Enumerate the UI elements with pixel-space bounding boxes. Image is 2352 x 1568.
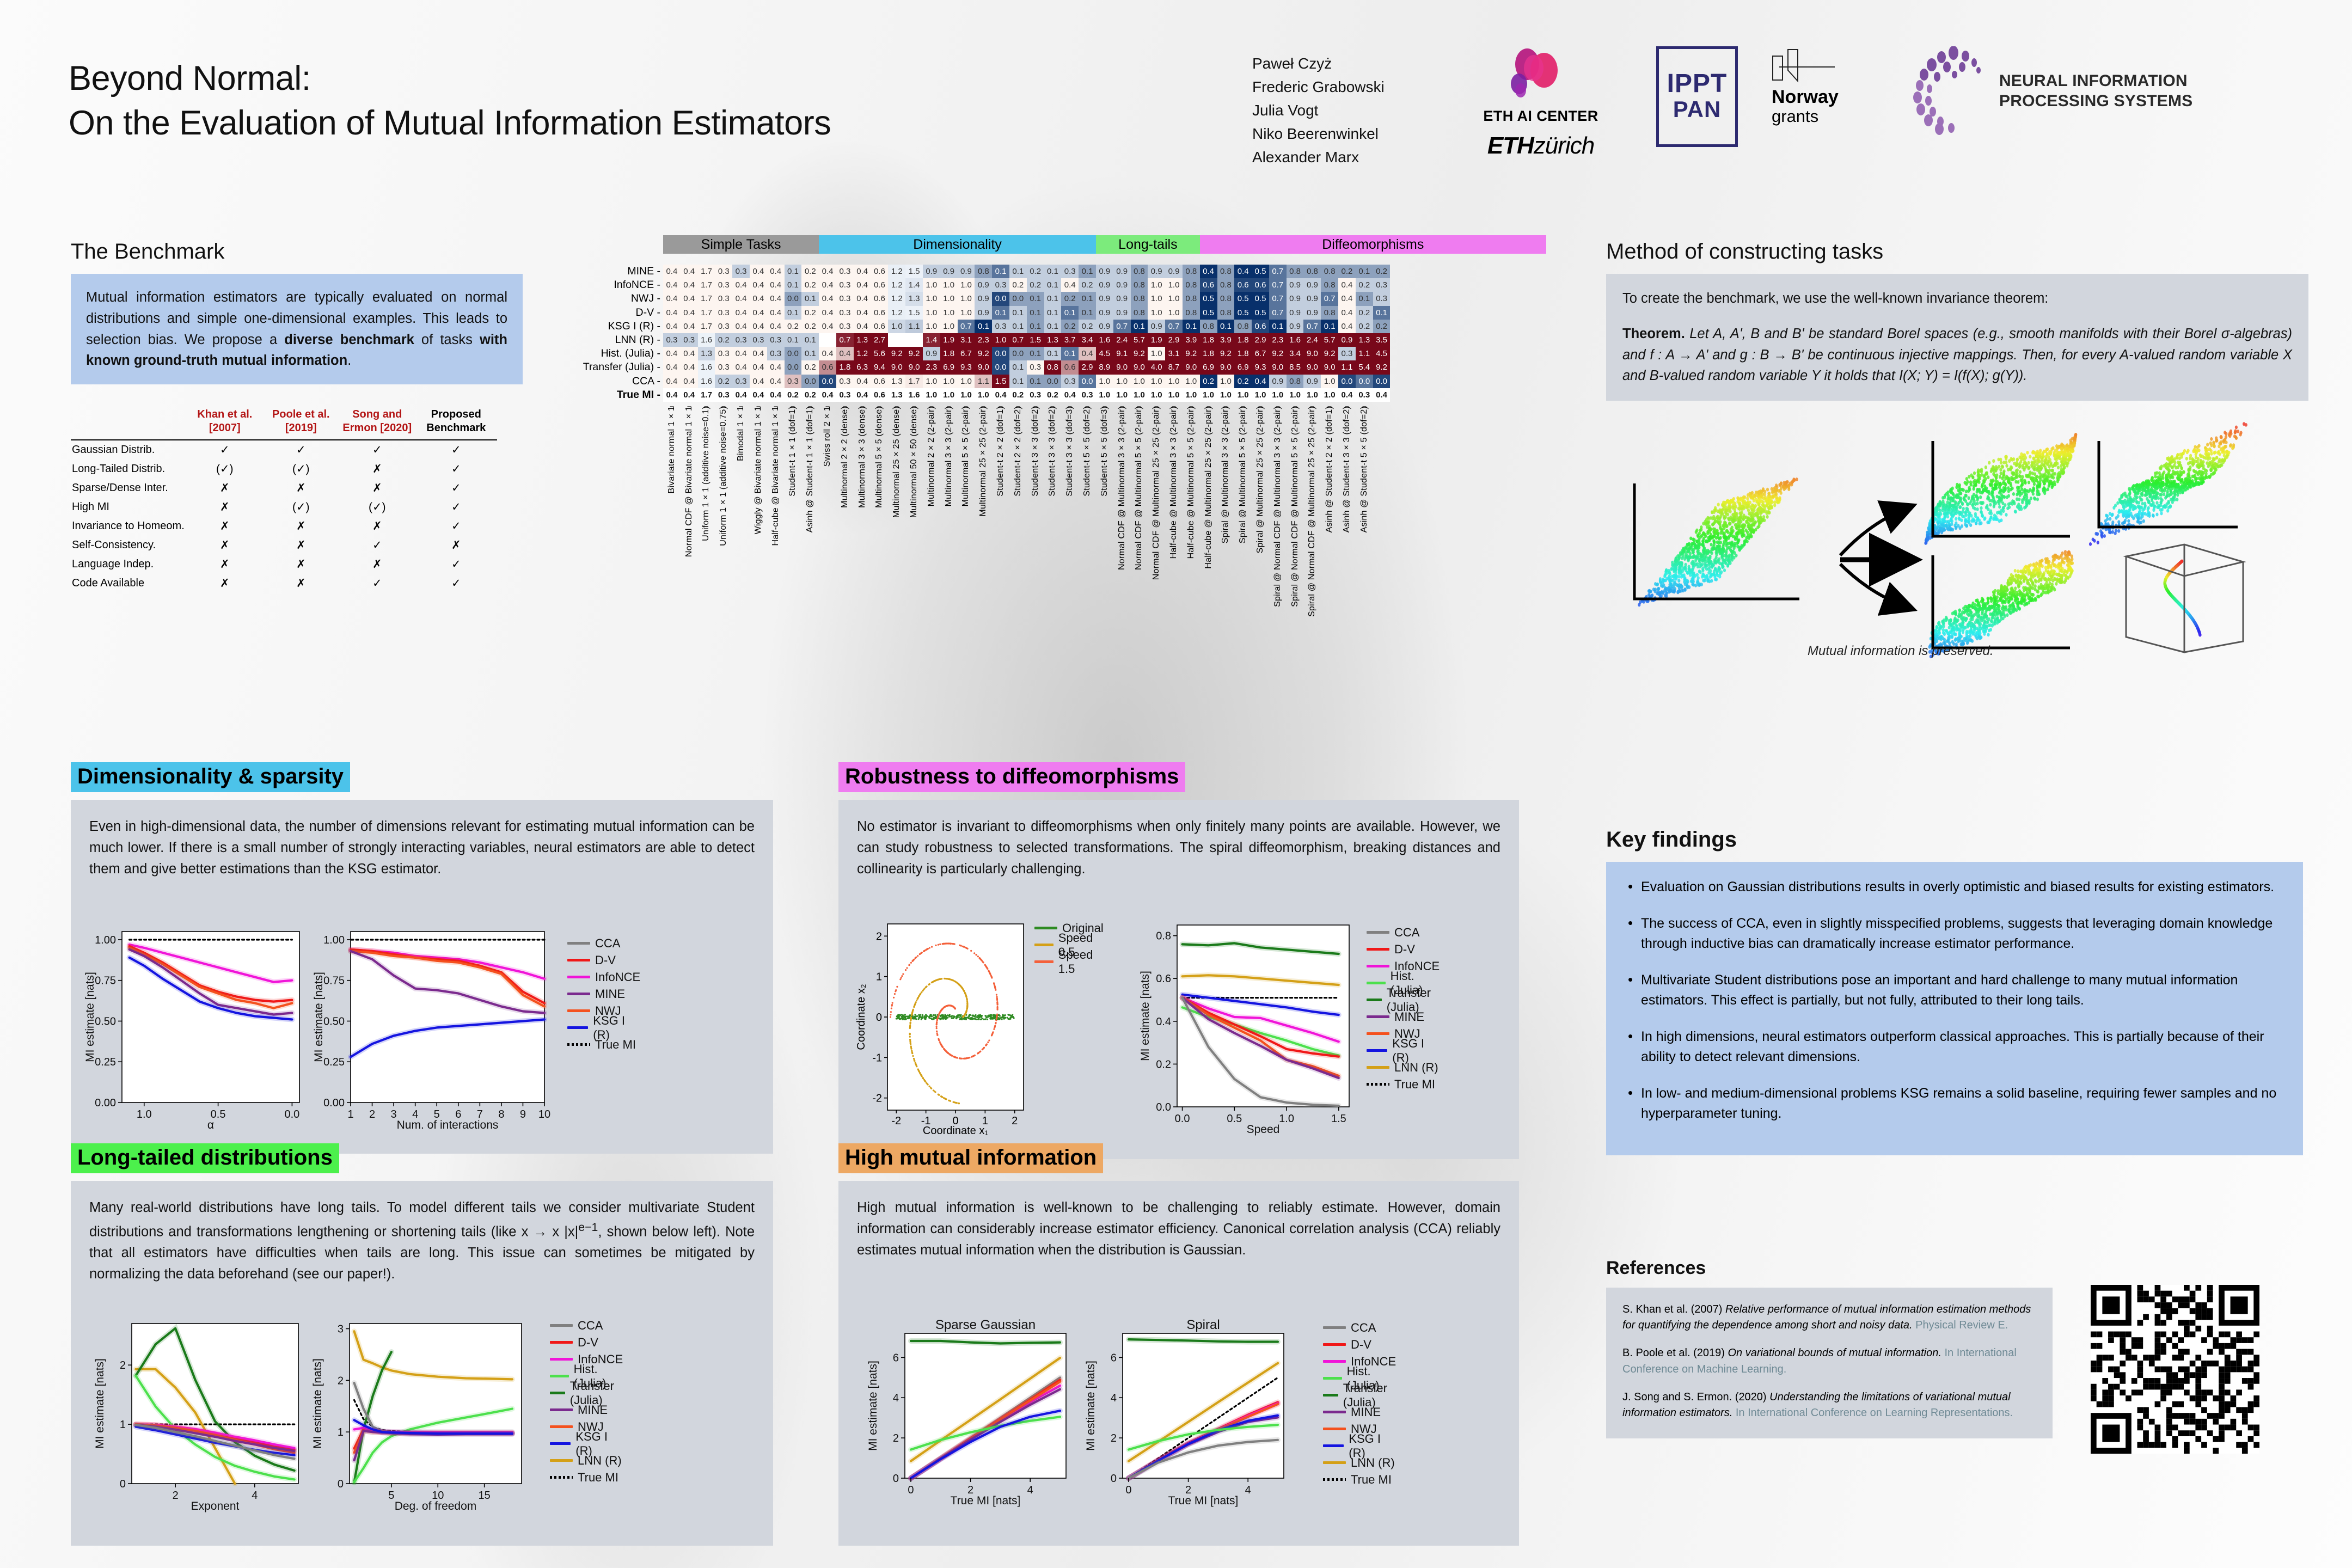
heatmap-cell: 1.0 — [923, 306, 940, 320]
legend-swatch — [1367, 1015, 1389, 1018]
method-title: Method of constructing tasks — [1606, 240, 2314, 264]
table-row: Gaussian Distrib.✓✓✓✓ — [71, 440, 497, 460]
heatmap-cell: 0.0 — [1009, 347, 1027, 360]
cmp-cell: ✓ — [415, 574, 497, 593]
heatmap-cell: 1.0 — [888, 320, 905, 333]
heatmap-col-label-23: Student-t 3 × 3 (dof=3) — [1061, 402, 1079, 565]
heatmap-cell: 0.1 — [1044, 278, 1062, 292]
heatmap-cell: 9.2 — [1269, 347, 1287, 360]
legend-label: D-V — [578, 1336, 598, 1350]
heatmap-cell: 3.9 — [1183, 333, 1200, 347]
heatmap-cell: 0.2 — [801, 278, 819, 292]
heatmap-cell: 1.0 — [940, 292, 958, 305]
line-chart-svg: 0246024True MI [nats]MI estimate [nats]S… — [866, 1312, 1073, 1508]
paper-qr-code[interactable] — [2091, 1285, 2259, 1454]
table-row: Language Indep.✗✗✗✓ — [71, 555, 497, 574]
heatmap-cell: 0.2 — [715, 333, 732, 347]
method-diagram-caption: Mutual information is preserved. — [1808, 644, 1993, 659]
heatmap-cell: 1.3 — [1356, 333, 1373, 347]
heatmap-cell: 0.8 — [1131, 265, 1148, 278]
highmi-legend: CCAD-VInfoNCEHist. (Julia)Transfer (Juli… — [1323, 1319, 1396, 1488]
heatmap-cell: 0.8 — [1131, 306, 1148, 320]
legend-item-1: D-V — [550, 1334, 623, 1351]
heatmap-cell: 0.4 — [681, 265, 698, 278]
cmp-cell: ✗ — [339, 555, 415, 574]
chart-num-interactions: 0.000.250.500.751.0010987654321Num. of i… — [311, 925, 551, 1135]
heatmap-cell: 0.8 — [975, 265, 992, 278]
heatmap-cell: 1.0 — [1113, 375, 1131, 388]
highmi-section: High mutual information High mutual info… — [838, 1143, 1541, 1546]
heatmap-col-label-0: Bivariate normal 1 × 1 — [663, 402, 681, 565]
heatmap-cell: 0.3 — [836, 388, 854, 402]
keyfindings-section: Key findings Evaluation on Gaussian dist… — [1606, 828, 2308, 1155]
heatmap-cell: 0.1 — [1044, 306, 1062, 320]
cmp-cell: ✗ — [263, 536, 339, 555]
heatmap-cell: 1.0 — [1183, 375, 1200, 388]
heatmap-cell: 2.9 — [1252, 333, 1269, 347]
cmp-row-label: Long-Tailed Distrib. — [71, 460, 187, 479]
chart-sparse-gaussian: 0246024True MI [nats]MI estimate [nats]S… — [866, 1312, 1073, 1510]
heatmap-col-label-27: Normal CDF @ Multinormal 5 × 5 (2-pair) — [1131, 402, 1148, 565]
heatmap-col-label-9: Swiss roll 2 × 1 — [819, 402, 836, 565]
heatmap-cell: 3.9 — [1217, 333, 1235, 347]
heatmap-cell: 0.4 — [681, 347, 698, 360]
heatmap-cell: 1.0 — [975, 388, 992, 402]
heatmap-cell: 0.9 — [1096, 320, 1113, 333]
legend-item-9: True MI — [1323, 1471, 1396, 1488]
legend-item-0: CCA — [550, 1317, 623, 1334]
cmp-cell: ✓ — [339, 440, 415, 460]
heatmap-cell: 0.9 — [1269, 375, 1287, 388]
heatmap-cell: 0.4 — [819, 320, 836, 333]
heatmap-cell: 9.0 — [1113, 360, 1131, 374]
legend-swatch — [550, 1425, 573, 1428]
legend-swatch — [1367, 999, 1382, 1001]
heatmap-cell: 1.7 — [698, 306, 715, 320]
heatmap-cell: 9.0 — [1303, 347, 1321, 360]
cmp-cell: (✓) — [339, 498, 415, 517]
method-diagram: Mutual information is preserved. — [1606, 419, 2314, 659]
heatmap-cell: 1.0 — [1200, 388, 1217, 402]
heatmap-cell: 0.6 — [871, 306, 889, 320]
heatmap-cell: 0.2 — [1061, 292, 1079, 305]
legend-swatch — [550, 1442, 571, 1445]
heatmap-cell: 0.2 — [1009, 278, 1027, 292]
heatmap-cell: 3.1 — [958, 333, 975, 347]
heatmap-col-label-17: Multinormal 5 × 5 (2-pair) — [958, 402, 975, 565]
legend-swatch — [1323, 1343, 1346, 1346]
method-scatter-svg — [1606, 419, 2314, 659]
heatmap-cell: 0.3 — [1061, 375, 1079, 388]
heatmap-cell: 2.3 — [923, 360, 940, 374]
method-intro-text: To create the benchmark, we use the well… — [1622, 288, 2292, 309]
heatmap-cell: 0.4 — [681, 292, 698, 305]
heatmap-cell: 0.0 — [1356, 375, 1373, 388]
heatmap-cell: 0.4 — [854, 375, 871, 388]
heatmap-cell: 0.2 — [1079, 278, 1096, 292]
heatmap-cell: 0.2 — [801, 320, 819, 333]
heatmap-cell: 0.1 — [1079, 306, 1096, 320]
heatmap-cell: 9.0 — [975, 360, 992, 374]
heatmap-cell: 0.7 — [1165, 320, 1183, 333]
heatmap-cell: 1.0 — [923, 292, 940, 305]
legend-label: CCA — [595, 936, 620, 951]
heatmap-cell: 0.4 — [767, 306, 785, 320]
heatmap-cell: 4.0 — [1148, 360, 1165, 374]
heatmap-col-label-39: Asinh @ Student-t 3 × 3 (dof=2) — [1338, 402, 1356, 565]
author-list: Paweł Czyż Frederic Grabowski Julia Vogt… — [1252, 52, 1385, 169]
legend-swatch — [1367, 982, 1386, 984]
heatmap-cell: 2.3 — [1269, 333, 1287, 347]
heatmap-cell: 3.4 — [1079, 333, 1096, 347]
cmp-cell: ✓ — [415, 460, 497, 479]
poster-title: Beyond Normal: On the Evaluation of Mutu… — [69, 57, 831, 146]
heatmap-cell: 0.2 — [785, 388, 802, 402]
heatmap-cell: 0.1 — [1321, 320, 1338, 333]
chart-spiral: 0246024True MI [nats]MI estimate [nats]S… — [1083, 1312, 1290, 1510]
heatmap-cell: 6.9 — [1234, 360, 1252, 374]
cmp-cell: ✗ — [339, 460, 415, 479]
heatmap-cell: 0.4 — [750, 292, 767, 305]
line-chart-svg: 0.000.250.500.751.0010987654321Num. of i… — [311, 925, 551, 1132]
legend-swatch — [1367, 948, 1389, 951]
heatmap-cell: 0.4 — [663, 265, 681, 278]
legend-item-8: LNN (R) — [1367, 1059, 1440, 1076]
heatmap-cell: 1.3 — [888, 388, 905, 402]
heatmap-cell: 0.3 — [1061, 265, 1079, 278]
table-row: Long-Tailed Distrib.(✓)(✓)✗✓ — [71, 460, 497, 479]
cmp-cell: ✗ — [187, 536, 263, 555]
heatmap-cell: 1.0 — [923, 388, 940, 402]
legend-label: MINE — [1351, 1405, 1381, 1419]
cmp-cell: (✓) — [263, 460, 339, 479]
heatmap-cell: 1.0 — [1252, 388, 1269, 402]
heatmap-cell: 0.4 — [819, 388, 836, 402]
heatmap-cell: 1.0 — [923, 278, 940, 292]
neurips-line-1: NEURAL INFORMATION — [1999, 71, 2192, 91]
heatmap-cell: 0.3 — [1373, 292, 1391, 305]
heatmap-cell: 0.1 — [1061, 306, 1079, 320]
heatmap-cell: 9.2 — [888, 347, 905, 360]
legend-label: MINE — [1394, 1010, 1424, 1024]
heatmap-cell: 0.6 — [1252, 278, 1269, 292]
legend-swatch — [567, 959, 590, 961]
keyfinding-item-4: In low- and medium-dimensional problems … — [1625, 1083, 2284, 1124]
heatmap-cell: 2.3 — [975, 333, 992, 347]
legend-label: CCA — [1351, 1321, 1376, 1335]
legend-label: True MI — [595, 1038, 636, 1052]
keyfindings-title: Key findings — [1606, 828, 2308, 852]
heatmap-cell: 0.4 — [836, 347, 854, 360]
heatmap-cell: 0.5 — [1200, 306, 1217, 320]
heatmap-cell: 0.9 — [1303, 278, 1321, 292]
heatmap-row: 0.40.41.60.20.30.40.40.30.00.00.30.40.61… — [663, 375, 1390, 388]
author-5: Alexander Marx — [1252, 145, 1385, 169]
heatmap-cell: 0.2 — [1044, 388, 1062, 402]
heatmap-cell: 0.4 — [854, 306, 871, 320]
heatmap-row-label-8: CCA - — [632, 375, 663, 388]
heatmap-cell: 0.1 — [1027, 306, 1044, 320]
heatmap-cell: 0.4 — [819, 292, 836, 305]
heatmap-cell: 0.4 — [1234, 265, 1252, 278]
method-theorem-panel: To create the benchmark, we use the well… — [1606, 274, 2308, 401]
heatmap-cell: 1.8 — [836, 360, 854, 374]
heatmap-cell: 9.2 — [1217, 347, 1235, 360]
heatmap-cell: 0.6 — [871, 265, 889, 278]
method-section: Method of constructing tasks To create t… — [1606, 240, 2314, 659]
heatmap-cell: 0.4 — [681, 375, 698, 388]
heatmap-cell: 0.4 — [819, 306, 836, 320]
heatmap-cell: 1.6 — [1287, 333, 1304, 347]
cmp-cell: ✗ — [187, 479, 263, 498]
heatmap-cell: 1.0 — [1321, 375, 1338, 388]
heatmap-cell: 0.5 — [1234, 306, 1252, 320]
heatmap-cell: 1.8 — [1200, 347, 1217, 360]
heatmap-cell: 1.4 — [923, 333, 940, 347]
heatmap-cell: 0.3 — [732, 375, 750, 388]
heatmap-cell: 2.9 — [1079, 360, 1096, 374]
heatmap-cell: 0.4 — [663, 306, 681, 320]
heatmap-cell: 0.9 — [1096, 292, 1113, 305]
heatmap-cell: 1.0 — [1165, 306, 1183, 320]
heatmap-cell: 0.2 — [1234, 375, 1252, 388]
heatmap-column-labels: Bivariate normal 1 × 1Normal CDF @ Bivar… — [663, 402, 1546, 565]
heatmap-cell: 0.2 — [1338, 265, 1356, 278]
heatmap-cell: 0.2 — [801, 306, 819, 320]
heatmap-group-headers: Simple TasksDimensionalityLong-tailsDiff… — [663, 235, 1546, 254]
heatmap-cell: 0.7 — [1009, 333, 1027, 347]
heatmap-cell: 1.0 — [1131, 388, 1148, 402]
heatmap-cell: 1.5 — [1027, 333, 1044, 347]
author-2: Frederic Grabowski — [1252, 75, 1385, 99]
logo-row: ETH AI CENTER ETHzürich IPPT PAN Norway … — [1459, 46, 2192, 160]
line-chart-svg: 0246024True MI [nats]MI estimate [nats]S… — [1083, 1312, 1290, 1508]
heatmap-cell: 6.9 — [1200, 360, 1217, 374]
theorem-body: Let A, A', B and B' be standard Borel sp… — [1622, 326, 2292, 384]
dimensionality-section: Dimensionality & sparsity Even in high-d… — [71, 762, 773, 1154]
heatmap-row-label-9: True MI - — [617, 388, 663, 402]
heatmap-row: 0.40.41.70.30.40.40.40.10.20.40.30.40.61… — [663, 306, 1390, 320]
eth-bold: ETH — [1487, 132, 1534, 159]
heatmap-cell: 0.8 — [1321, 278, 1338, 292]
heatmap-row-label-1: InfoNCE - — [614, 278, 663, 292]
heatmap-col-label-38: Asinh @ Student-t 2 × 2 (dof=1) — [1321, 402, 1338, 565]
heatmap-col-label-25: Student-t 5 × 5 (dof=3) — [1096, 402, 1113, 565]
heatmap-cell: 0.7 — [1269, 306, 1287, 320]
heatmap-cell: 1.1 — [975, 375, 992, 388]
author-3: Julia Vogt — [1252, 99, 1385, 122]
heatmap-cell: 0.4 — [767, 265, 785, 278]
heatmap-cell: 0.6 — [819, 360, 836, 374]
heatmap-cell: 0.3 — [992, 278, 1009, 292]
cmp-col-0: Khan et al.[2007] — [187, 405, 263, 438]
heatmap-cell — [819, 333, 836, 347]
heatmap-cell: 0.3 — [663, 333, 681, 347]
legend-item-4: Transfer (Julia) — [1367, 991, 1440, 1008]
heatmap-cell: 0.4 — [767, 292, 785, 305]
heatmap-cell: 0.1 — [1044, 292, 1062, 305]
heatmap-cell: 0.6 — [1200, 278, 1217, 292]
heatmap-cell: 0.0 — [785, 292, 802, 305]
heatmap-cell: 0.7 — [1269, 265, 1287, 278]
heatmap-cell: 0.4 — [663, 347, 681, 360]
legend-item-2: Speed 1.5 — [1034, 953, 1104, 970]
heatmap-col-label-29: Half-cube @ Multinormal 3 × 3 (2-pair) — [1165, 402, 1183, 565]
dimensionality-legend: CCAD-VInfoNCEMINENWJKSG I (R)True MI — [567, 935, 640, 1053]
heatmap-cell: 0.4 — [854, 320, 871, 333]
heatmap-cell: 0.3 — [715, 306, 732, 320]
grants-label: grants — [1772, 107, 1818, 126]
heatmap-col-label-28: Normal CDF @ Multinormal 25 × 25 (2-pair… — [1148, 402, 1165, 565]
heatmap-cell: 0.3 — [836, 292, 854, 305]
heatmap-cell: 0.4 — [1061, 388, 1079, 402]
line-chart-svg: 0.000.250.500.751.001.00.50.0αMI estimat… — [83, 925, 306, 1132]
heatmap-cell: 0.2 — [1027, 278, 1044, 292]
line-chart-svg: 0.00.20.40.60.80.00.51.01.5SpeedMI estim… — [1138, 918, 1356, 1136]
heatmap-cell: 0.8 — [1183, 265, 1200, 278]
longtail-legend: CCAD-VInfoNCEHist. (Julia)Transfer (Juli… — [550, 1317, 623, 1486]
heatmap-cell: 0.9 — [1165, 265, 1183, 278]
heatmap-cell: 0.1 — [1027, 375, 1044, 388]
heatmap-col-label-10: Multinormal 2 × 2 (dense) — [836, 402, 854, 565]
heatmap-cell: 0.1 — [1044, 347, 1062, 360]
heatmap-group-0: Simple Tasks — [663, 235, 819, 254]
heatmap-cell: 0.1 — [785, 278, 802, 292]
heatmap-cell: 1.6 — [1096, 333, 1113, 347]
heatmap-cell: 0.4 — [854, 292, 871, 305]
cmp-cell: ✓ — [339, 536, 415, 555]
heatmap-cell: 9.2 — [1373, 360, 1391, 374]
heatmap-cell: 0.1 — [1009, 320, 1027, 333]
heatmap-cell: 1.0 — [1096, 388, 1113, 402]
heatmap-cell: 0.8 — [1131, 292, 1148, 305]
ippt-label: IPPT — [1667, 71, 1728, 97]
heatmap-cell: 0.4 — [854, 388, 871, 402]
heatmap-row-label-6: Hist. (Julia) - — [601, 347, 663, 360]
cmp-row-label: Gaussian Distrib. — [71, 440, 187, 460]
heatmap-cell: 0.9 — [975, 292, 992, 305]
heatmap-cell: 1.0 — [1217, 375, 1235, 388]
heatmap-cell: 1.0 — [958, 292, 975, 305]
heatmap-cell: 0.1 — [992, 265, 1009, 278]
heatmap-cell: 0.4 — [750, 388, 767, 402]
cmp-cell: ✓ — [415, 498, 497, 517]
heatmap-cell: 0.2 — [715, 375, 732, 388]
heatmap-cell — [888, 333, 905, 347]
heatmap-cell: 0.7 — [1269, 278, 1287, 292]
cmp-cell: ✗ — [339, 479, 415, 498]
heatmap-cell: 0.4 — [819, 278, 836, 292]
heatmap-cell: 5.7 — [1321, 333, 1338, 347]
qr-code-icon[interactable] — [2091, 1285, 2259, 1454]
legend-item-8: LNN (R) — [1323, 1454, 1396, 1471]
diffeomorphisms-panel: No estimator is invariant to diffeomorph… — [838, 800, 1519, 1159]
heatmap-cell: 8.5 — [1287, 360, 1304, 374]
heatmap-col-label-15: Multinormal 2 × 2 (2-pair) — [923, 402, 940, 565]
heatmap-cell: 0.8 — [1131, 278, 1148, 292]
heatmap-cell: 0.5 — [1234, 292, 1252, 305]
legend-swatch — [1323, 1444, 1344, 1447]
references-panel: S. Khan et al. (2007) Relative performan… — [1606, 1288, 2053, 1438]
legend-swatch — [550, 1459, 573, 1462]
heatmap-cell: 0.4 — [767, 278, 785, 292]
heatmap-cell: 1.0 — [1148, 347, 1165, 360]
heatmap-cell: 9.2 — [1131, 347, 1148, 360]
heatmap-cell: 0.1 — [1061, 347, 1079, 360]
heatmap-col-label-36: Spiral @ Normal CDF @ Multinormal 5 × 5 … — [1287, 402, 1304, 565]
legend-swatch — [1323, 1478, 1346, 1481]
heatmap-cell: 1.2 — [888, 278, 905, 292]
zurich-light: zürich — [1534, 132, 1594, 159]
legend-label: True MI — [1351, 1473, 1392, 1487]
heatmap-group-3: Diffeomorphisms — [1200, 235, 1546, 254]
heatmap-cell: 1.0 — [1287, 388, 1304, 402]
heatmap-group-1: Dimensionality — [819, 235, 1096, 254]
legend-label: LNN (R) — [1394, 1061, 1438, 1075]
heatmap-cell: 0.4 — [1373, 388, 1391, 402]
longtail-title: Long-tailed distributions — [71, 1143, 339, 1173]
longtail-section: Long-tailed distributions Many real-worl… — [71, 1143, 773, 1546]
heatmap-cell: 0.1 — [1217, 320, 1235, 333]
heatmap-row-label-5: LNN (R) - — [615, 333, 663, 347]
heatmap-cell: 0.3 — [1338, 347, 1356, 360]
heatmap-cell: 1.4 — [905, 278, 923, 292]
heatmap-cell: 5.7 — [1131, 333, 1148, 347]
heatmap-cell: 0.2 — [1356, 306, 1373, 320]
heatmap-cell: 1.7 — [698, 265, 715, 278]
heatmap-cell: 0.0 — [992, 292, 1009, 305]
heatmap-cell: 0.4 — [767, 320, 785, 333]
heatmap-cell: 0.4 — [681, 388, 698, 402]
heatmap-cell: 0.4 — [750, 360, 767, 374]
heatmap-cell: 0.2 — [1356, 320, 1373, 333]
heatmap-cell: 0.4 — [681, 360, 698, 374]
reference-item-0: S. Khan et al. (2007) Relative performan… — [1622, 1302, 2036, 1333]
heatmap-cell: 3.7 — [1061, 333, 1079, 347]
method-theorem-text: Theorem. Let A, A', B and B' be standard… — [1622, 323, 2292, 387]
heatmap-cell: 2.7 — [871, 333, 889, 347]
reference-item-1: B. Poole et al. (2019) On variational bo… — [1622, 1345, 2036, 1377]
heatmap-cell: 1.0 — [1148, 292, 1165, 305]
heatmap-cell — [905, 333, 923, 347]
table-row: Code Available✗✗✓✓ — [71, 574, 497, 593]
neurips-swirl-icon — [1909, 46, 1990, 136]
line-chart-svg: 012351015Deg. of freedomMI estimate [nat… — [310, 1317, 528, 1513]
legend-item-2: InfoNCE — [567, 969, 640, 985]
cmp-cell: ✓ — [415, 517, 497, 536]
heatmap-cell: 0.2 — [801, 265, 819, 278]
heatmap-cell: 0.1 — [1131, 320, 1148, 333]
chart-exponent: 01224ExponentMI estimate [nats] — [93, 1317, 305, 1516]
heatmap-cell: 1.0 — [1113, 388, 1131, 402]
heatmap-cell: 1.0 — [1148, 388, 1165, 402]
legend-swatch — [550, 1476, 573, 1479]
norway-grants-logo: Norway grants — [1772, 46, 1875, 126]
cmp-cell: ✓ — [415, 555, 497, 574]
heatmap-row: 0.40.41.70.30.40.40.40.10.20.40.30.40.61… — [663, 278, 1390, 292]
heatmap-cell: 1.0 — [1148, 375, 1165, 388]
heatmap-cell: 1.7 — [698, 320, 715, 333]
heatmap-cell: 0.4 — [732, 292, 750, 305]
heatmap-cell: 0.3 — [715, 292, 732, 305]
eth-ai-center-dots-icon — [1505, 47, 1576, 105]
heatmap-cell: 1.1 — [905, 320, 923, 333]
heatmap-cell: 0.2 — [1027, 265, 1044, 278]
legend-item-5: MINE — [550, 1401, 623, 1418]
heatmap-cell: 1.0 — [1321, 388, 1338, 402]
heatmap-cell: 2.4 — [1303, 333, 1321, 347]
legend-item-3: MINE — [567, 985, 640, 1002]
